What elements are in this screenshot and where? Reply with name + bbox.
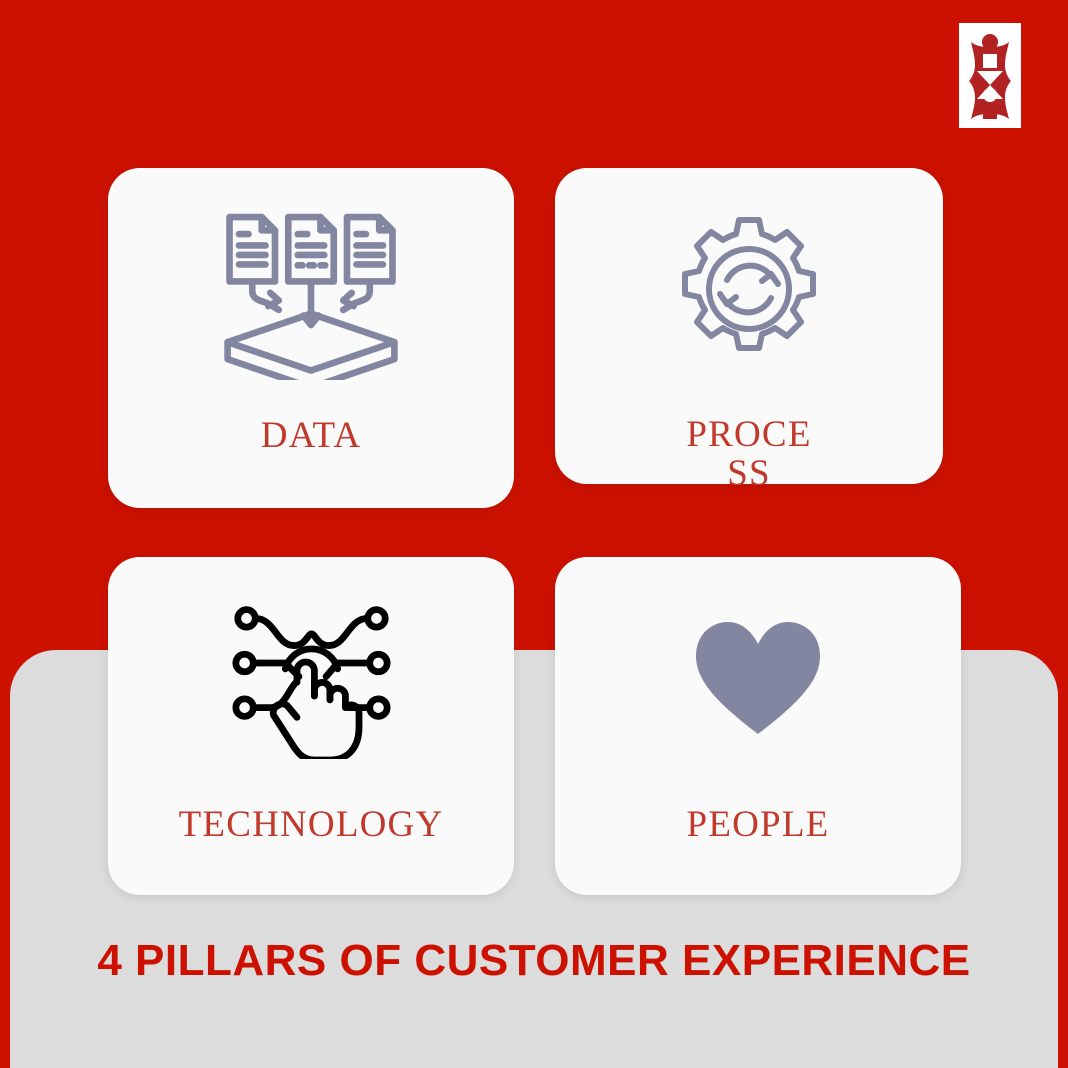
card-process-label: PROCESS — [686, 416, 812, 494]
poster-title: 4 PILLARS OF CUSTOMER EXPERIENCE — [0, 936, 1068, 986]
card-people-label: PEOPLE — [555, 806, 961, 895]
card-technology[interactable]: TECHNOLOGY — [108, 557, 514, 895]
card-technology-label: TECHNOLOGY — [108, 806, 514, 895]
documents-to-stack-icon — [216, 200, 406, 385]
heart-icon — [694, 620, 822, 743]
card-process[interactable]: PROCESS — [555, 168, 943, 484]
card-process-label-wrap: PROCESS — [686, 416, 812, 494]
card-technology-icon-slot — [108, 557, 514, 806]
infographic-poster: DATA PROCESS — [0, 0, 1068, 1068]
card-data-icon-slot — [108, 168, 514, 417]
card-data[interactable]: DATA — [108, 168, 514, 508]
hand-touch-network-icon — [229, 599, 394, 764]
adinkra-figure-logo-icon — [966, 33, 1014, 119]
card-people-icon-slot — [555, 557, 961, 806]
logo-badge — [959, 23, 1021, 128]
card-people[interactable]: PEOPLE — [555, 557, 961, 895]
gear-refresh-icon — [674, 214, 824, 369]
card-data-label: DATA — [108, 417, 514, 508]
